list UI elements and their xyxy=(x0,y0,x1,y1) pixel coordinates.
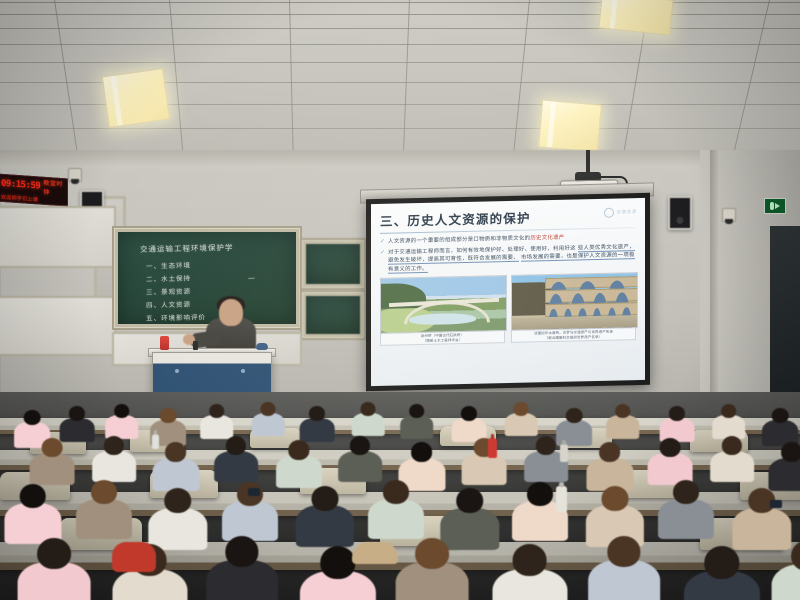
student xyxy=(462,438,507,489)
student-torso xyxy=(368,499,424,539)
student xyxy=(396,538,469,600)
student xyxy=(252,402,284,439)
wall-pillar xyxy=(710,150,718,420)
student-head xyxy=(461,406,477,421)
student xyxy=(368,480,424,544)
red-cup xyxy=(160,336,169,350)
led-label-text: 教室时钟 xyxy=(43,178,67,198)
student-head xyxy=(673,480,699,504)
student-head xyxy=(721,404,737,418)
student-head xyxy=(19,484,46,508)
red-knit-hat xyxy=(112,542,156,572)
blackboard-line: 一、生态环境 xyxy=(146,260,191,271)
student-head xyxy=(411,442,433,462)
student-phone-2 xyxy=(770,500,782,508)
projection-screen[interactable]: 长安大学 三、历史人文资源的保护 ✓ 人文资源的一个重要的组成部分是口物质和非物… xyxy=(366,193,650,391)
bullet-1-highlight: 历史文化遗产 xyxy=(530,235,564,242)
blackboard-side-upper-surface xyxy=(306,244,360,284)
beige-cap xyxy=(352,542,398,564)
student-seating-area xyxy=(0,392,800,600)
student xyxy=(492,544,567,600)
student-head xyxy=(456,488,484,513)
bullet-check-icon: ✓ xyxy=(380,238,385,247)
student-torso xyxy=(30,453,75,485)
student-head xyxy=(409,404,425,418)
projector-mount-pole xyxy=(586,150,590,174)
blackboard-heading-text: 交通运输工程环境保护学 xyxy=(140,242,234,255)
bullet-check-icon-2: ✓ xyxy=(380,249,385,274)
student-head xyxy=(660,438,681,457)
ceiling-line-h xyxy=(0,44,800,45)
student-head xyxy=(383,480,409,504)
pont-du-gard-image xyxy=(511,272,638,331)
student-head xyxy=(602,486,629,511)
drink-bottle xyxy=(152,434,159,449)
led-clock-display: 09:15:59 教室时钟 欢迎同学们上课 xyxy=(0,174,68,207)
student-head xyxy=(24,410,41,425)
blackboard-main: 交通运输工程环境保护学 一、生态环境二、水土保持三、景观资源四、人文资源五、环境… xyxy=(112,226,302,330)
bullet-2-text: 对于交通运输工程师而言，如何有效地保护好、处理好、使用好、利用好这 些人类优秀文… xyxy=(388,243,636,274)
red-water-bottle xyxy=(488,438,497,458)
student-torso xyxy=(768,458,800,492)
student-head xyxy=(350,436,370,455)
student-torso xyxy=(152,458,199,492)
student-head xyxy=(164,488,192,513)
podium-fitting-left xyxy=(175,369,179,373)
white-thermos xyxy=(560,444,568,462)
student-head xyxy=(160,408,177,423)
aqueduct-riverbed xyxy=(512,315,637,330)
student-torso xyxy=(400,415,434,439)
student-head xyxy=(615,404,631,418)
student-head xyxy=(42,438,63,457)
student-head xyxy=(320,546,355,579)
front-whiteboard-left-bottom xyxy=(0,296,116,356)
figure-chinese-bridge: 赵州桥（中国古代石拱桥） （隐美土木工程师学会） xyxy=(380,275,505,346)
ceiling-line-h xyxy=(0,128,800,129)
student-head xyxy=(114,404,130,418)
blackboard-dash-mark: — xyxy=(248,274,256,282)
exit-sign-icon xyxy=(764,198,786,214)
ceiling-light-panel xyxy=(102,68,171,128)
podium-fitting-right xyxy=(241,369,245,373)
student-head xyxy=(91,480,117,504)
slide-bullet-2: ✓ 对于交通运输工程师而言，如何有效地保护好、处理好、使用好、利用好这 些人类优… xyxy=(380,243,636,274)
classroom-door[interactable] xyxy=(770,226,800,416)
thermos-bottle xyxy=(556,486,567,512)
student-torso xyxy=(352,413,384,436)
student-torso xyxy=(658,499,714,539)
lecture-hall-photo: 09:15:59 教室时钟 欢迎同学们上课 交通运输工程环境保护学 一、生态环境… xyxy=(0,0,800,600)
student xyxy=(30,438,75,489)
led-time-text: 09:15:59 xyxy=(1,179,40,192)
student-torso xyxy=(214,451,258,482)
computer-mouse xyxy=(256,343,268,350)
student-head xyxy=(288,440,309,460)
student-head xyxy=(261,402,276,416)
student xyxy=(710,436,754,486)
student-phone xyxy=(248,488,260,496)
student xyxy=(76,480,132,544)
student xyxy=(338,436,382,486)
blackboard-line: 二、水土保持 xyxy=(146,273,191,284)
student xyxy=(606,404,640,442)
student-head xyxy=(607,536,640,567)
front-whiteboard-left-top xyxy=(0,206,116,268)
ceiling-light-panel xyxy=(538,99,602,152)
ceiling-line-h xyxy=(0,28,800,29)
student-head xyxy=(781,442,800,462)
student-head xyxy=(226,436,246,455)
wall-speaker-right xyxy=(668,196,692,230)
student-torso xyxy=(276,455,322,488)
student-torso xyxy=(462,453,507,485)
blackboard-side-lower xyxy=(300,290,366,340)
student-head xyxy=(704,546,739,579)
exit-arrow-glyph xyxy=(775,203,780,209)
student-head xyxy=(514,402,529,416)
blackboard-line: 五、环境影响评价 xyxy=(146,311,206,322)
chinese-stone-arch-bridge-image xyxy=(380,275,507,334)
aqueduct-structure xyxy=(545,276,639,317)
wall-band xyxy=(0,150,800,168)
student-head xyxy=(209,404,225,418)
student-torso xyxy=(252,413,284,436)
ceiling-camera-icon xyxy=(68,168,82,182)
presentation-slide: 长安大学 三、历史人文资源的保护 ✓ 人文资源的一个重要的组成部分是口物质和非物… xyxy=(371,198,645,386)
student-torso xyxy=(76,499,132,539)
student-head xyxy=(512,544,547,576)
student-head xyxy=(165,442,187,462)
ceiling-line-h xyxy=(0,2,800,3)
student-head xyxy=(527,482,553,506)
ceiling-line-h xyxy=(0,14,800,15)
marker-pen xyxy=(193,341,198,350)
student xyxy=(214,436,258,486)
student xyxy=(505,402,537,439)
blackboard-line: 四、人文资源 xyxy=(146,299,191,310)
student-torso xyxy=(710,451,754,482)
student-head xyxy=(772,408,789,423)
student xyxy=(352,402,384,439)
student-torso xyxy=(296,505,354,547)
student-head xyxy=(69,406,85,421)
student-head xyxy=(104,436,124,455)
exit-figure-glyph xyxy=(770,202,774,210)
ceiling-camera-icon-right xyxy=(722,208,736,222)
blackboard-surface: 交通运输工程环境保护学 一、生态环境二、水土保持三、景观资源四、人文资源五、环境… xyxy=(118,232,296,324)
student-torso xyxy=(772,564,800,600)
student-head xyxy=(415,538,449,569)
student-head xyxy=(722,436,742,455)
student xyxy=(588,536,660,600)
slide-figures: 赵州桥（中国古代石拱桥） （隐美土木工程师学会） 法国加尔水道桥，古罗马交通遗产… xyxy=(380,272,636,346)
student xyxy=(684,546,760,600)
student-head xyxy=(536,436,556,455)
logo-text: 长安大学 xyxy=(617,209,637,215)
blackboard-line: 三、景观资源 xyxy=(146,286,191,297)
student-torso xyxy=(92,451,136,482)
student xyxy=(206,536,278,600)
lecturer-head xyxy=(219,299,243,326)
logo-mark-icon xyxy=(604,208,614,218)
student xyxy=(658,480,714,544)
student xyxy=(92,436,136,486)
student-torso xyxy=(222,501,278,541)
student-torso xyxy=(606,415,640,439)
figure-roman-aqueduct: 法国加尔水道桥，古罗马交通遗产与世界遗产名录 （联合国教科文组织世界遗产名录） xyxy=(511,272,636,343)
student-torso xyxy=(338,451,382,482)
student-head xyxy=(312,486,339,511)
student xyxy=(18,538,91,600)
university-logo: 长安大学 xyxy=(604,207,637,218)
student-head xyxy=(37,538,71,569)
student xyxy=(400,404,434,442)
ceiling-line-h xyxy=(0,62,800,63)
student-head xyxy=(599,442,621,462)
slide-title: 三、历史人文资源的保护 xyxy=(380,205,636,230)
student-head xyxy=(309,406,325,421)
student xyxy=(296,486,354,553)
student xyxy=(772,540,800,600)
student-head xyxy=(225,536,258,567)
student-torso xyxy=(300,418,335,443)
student-torso xyxy=(505,413,537,436)
student-head xyxy=(361,402,376,416)
blackboard-side-lower-surface xyxy=(306,296,360,334)
blackboard-side-upper xyxy=(300,238,366,290)
student xyxy=(276,440,322,492)
student-head xyxy=(566,408,583,423)
student-head xyxy=(669,406,685,421)
